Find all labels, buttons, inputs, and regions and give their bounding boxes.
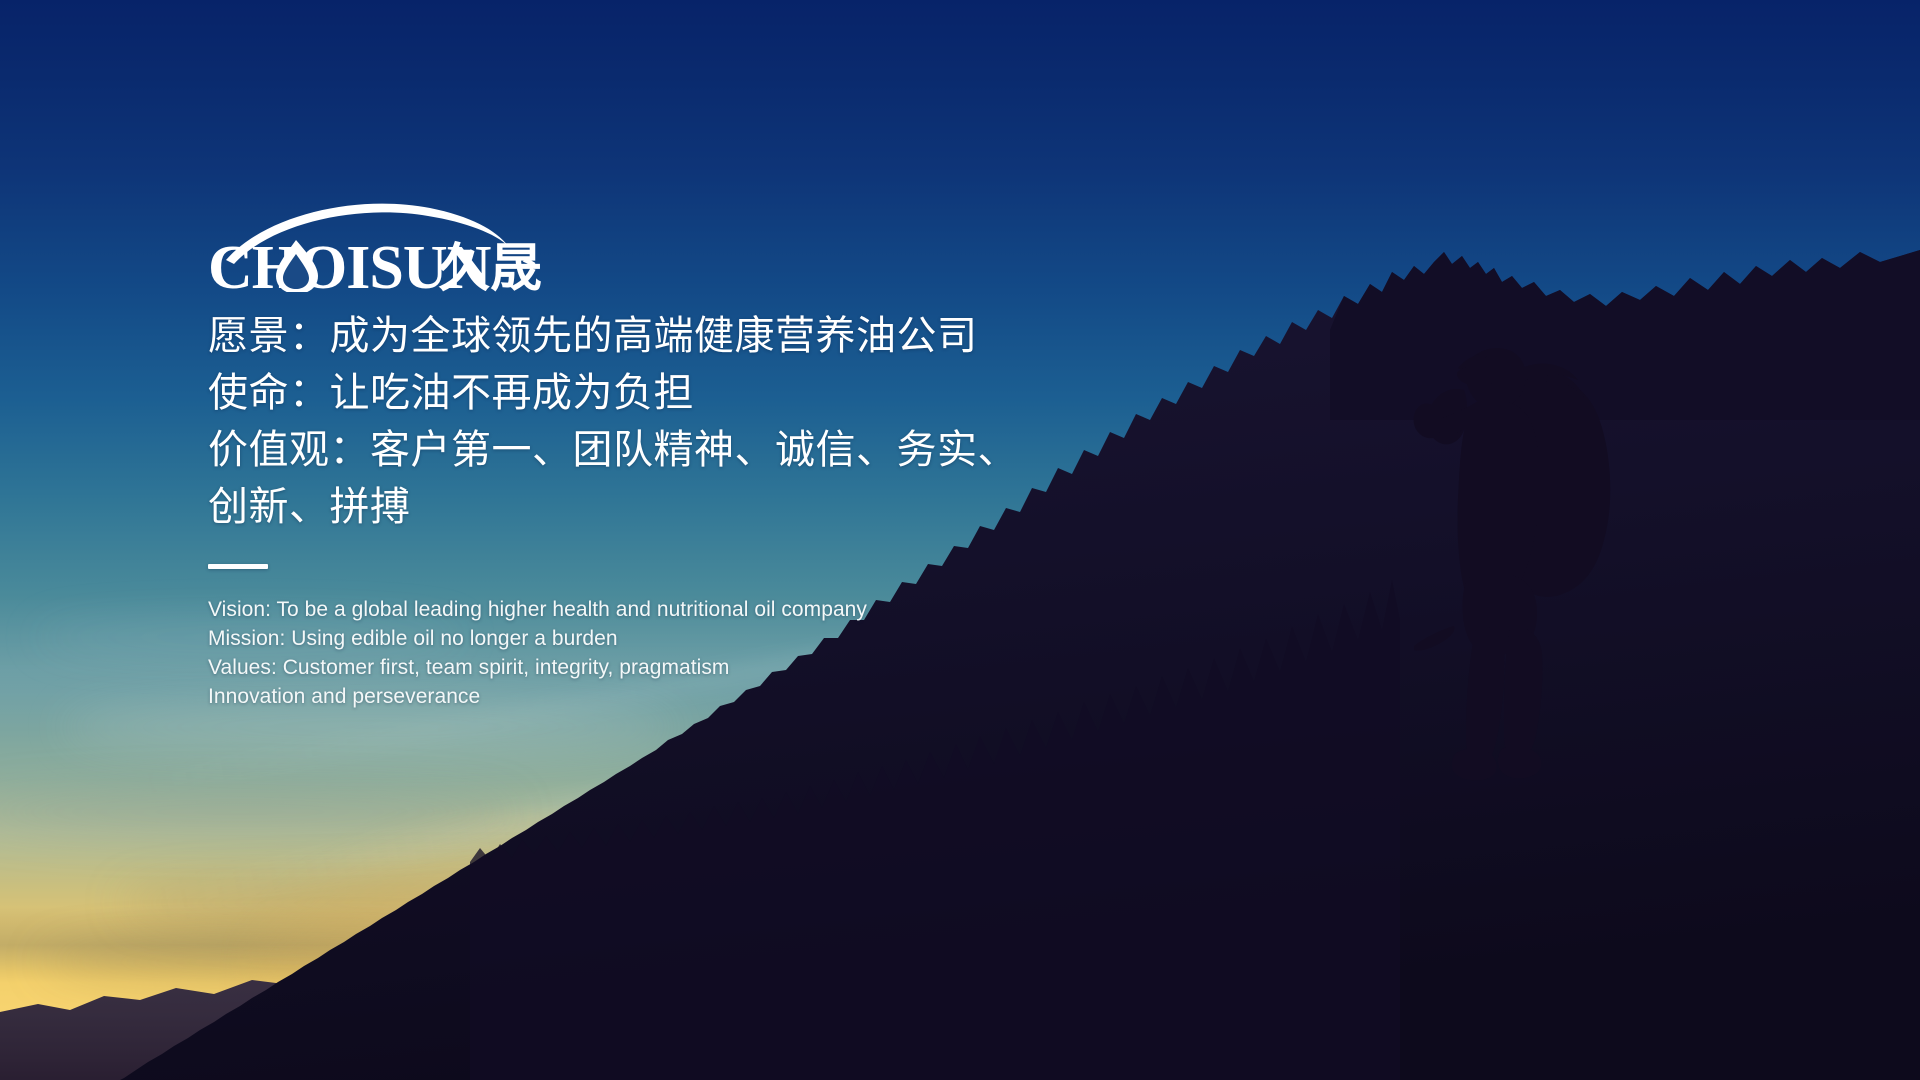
hiker-silhouette xyxy=(1398,328,1638,788)
brand-logo[interactable]: CHOISUN 久晟 xyxy=(208,196,548,292)
statement-cn-mission: 使命：让吃油不再成为负担 xyxy=(208,365,1128,422)
statement-cn-values: 价值观：客户第一、团队精神、诚信、务实、 xyxy=(208,422,1128,479)
statement-en-mission: Mission: Using edible oil no longer a bu… xyxy=(208,624,1128,653)
statement-en-values-cont: Innovation and perseverance xyxy=(208,682,1128,711)
hero-banner: CHOISUN 久晟 愿景：成为全球领先的高端健康营养油公司 使命：让吃油不再成… xyxy=(0,0,1920,1080)
statement-en-vision: Vision: To be a global leading higher he… xyxy=(208,595,1128,624)
statement-cn-values-cont: 创新、拼搏 xyxy=(208,479,1128,536)
section-divider xyxy=(208,564,268,569)
statement-en-values: Values: Customer first, team spirit, int… xyxy=(208,653,1128,682)
statement-cn-vision: 愿景：成为全球领先的高端健康营养油公司 xyxy=(208,308,1128,365)
hero-content: CHOISUN 久晟 愿景：成为全球领先的高端健康营养油公司 使命：让吃油不再成… xyxy=(208,196,1128,711)
statements-chinese: 愿景：成为全球领先的高端健康营养油公司 使命：让吃油不再成为负担 价值观：客户第… xyxy=(208,308,1128,536)
statements-english: Vision: To be a global leading higher he… xyxy=(208,595,1128,711)
logo-cn-characters: 久晟 xyxy=(438,239,542,292)
